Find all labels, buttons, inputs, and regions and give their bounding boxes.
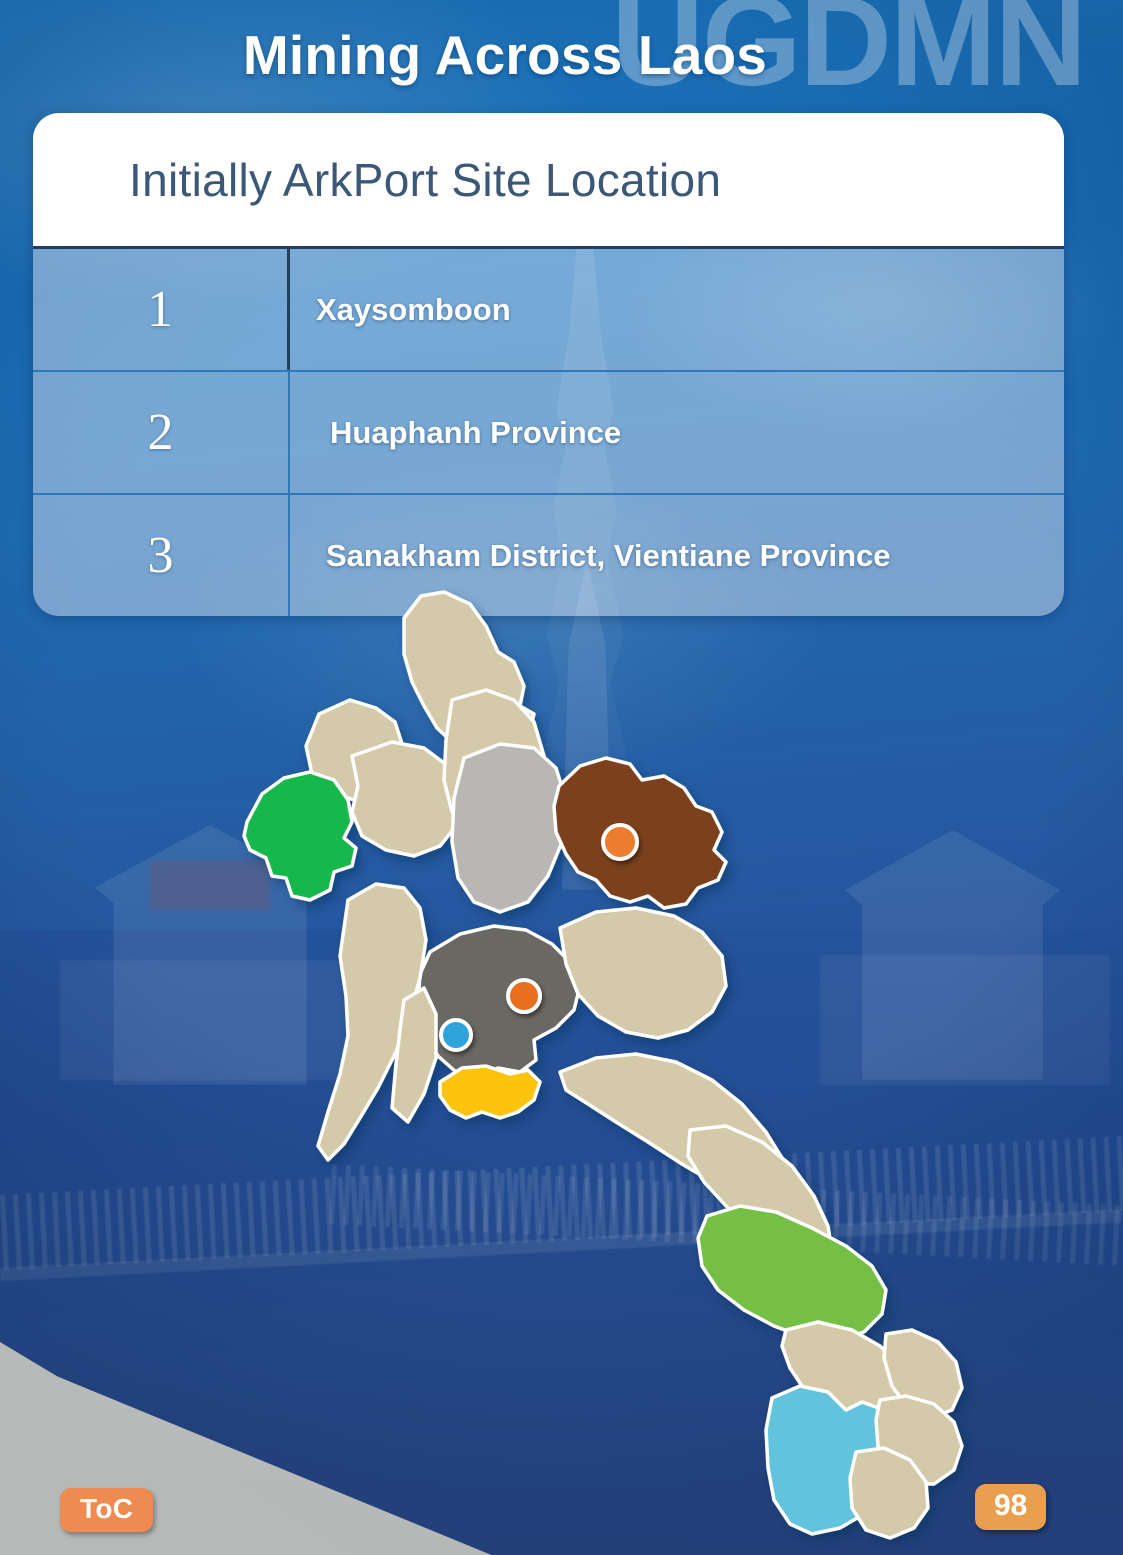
toc-button[interactable]: ToC bbox=[60, 1488, 153, 1532]
row-label: Xaysomboon bbox=[290, 249, 1064, 370]
card-header-title: Initially ArkPort Site Location bbox=[129, 153, 721, 207]
table-row[interactable]: 2 Huaphanh Province bbox=[33, 372, 1064, 495]
row-label: Sanakham District, Vientiane Province bbox=[290, 495, 1064, 616]
site-location-table: 1 Xaysomboon 2 Huaphanh Province 3 Sanak… bbox=[33, 246, 1064, 616]
table-row[interactable]: 1 Xaysomboon bbox=[33, 246, 1064, 372]
page-title: Mining Across Laos bbox=[0, 23, 1010, 87]
row-number: 1 bbox=[33, 249, 290, 370]
card-header: Initially ArkPort Site Location bbox=[33, 113, 1064, 246]
table-row[interactable]: 3 Sanakham District, Vientiane Province bbox=[33, 495, 1064, 616]
row-label: Huaphanh Province bbox=[290, 372, 1064, 493]
page-number-badge[interactable]: 98 bbox=[975, 1484, 1046, 1530]
row-number: 2 bbox=[33, 372, 290, 493]
row-number: 3 bbox=[33, 495, 290, 616]
site-location-card: Initially ArkPort Site Location 1 Xaysom… bbox=[33, 113, 1064, 616]
slide-canvas: UGDMN Mining Across Laos Initially ArkPo… bbox=[0, 0, 1123, 1555]
